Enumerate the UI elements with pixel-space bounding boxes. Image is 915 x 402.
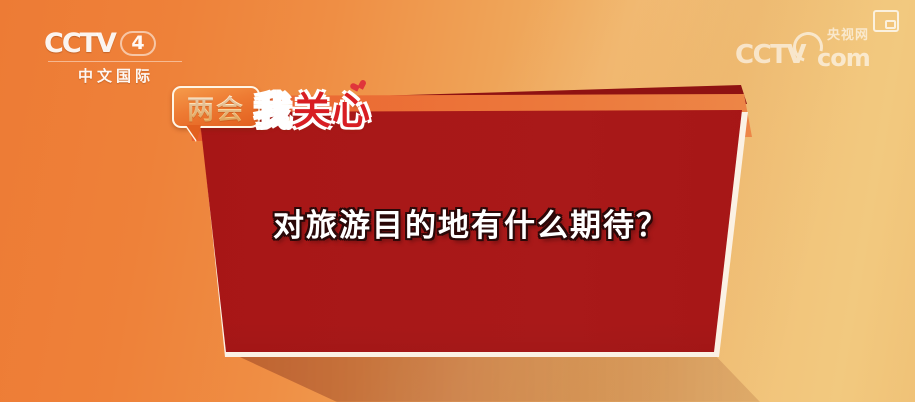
banner-speech-bubble: 两会 bbox=[172, 86, 260, 128]
question-headline: 对旅游目的地有什么期待？ bbox=[226, 200, 716, 245]
banner-title: 我 关心 bbox=[254, 80, 371, 135]
banner-title-gold: 我 bbox=[254, 80, 293, 135]
bubble-tail bbox=[186, 125, 201, 141]
broadcast-screen: CCTV 4 中文国际 CCTV com 央视网 对旅游目的地有什么期待？ 两会… bbox=[0, 0, 915, 402]
program-banner: 两会 我 关心 bbox=[172, 80, 371, 134]
banner-bubble-text: 两会 bbox=[187, 88, 245, 127]
